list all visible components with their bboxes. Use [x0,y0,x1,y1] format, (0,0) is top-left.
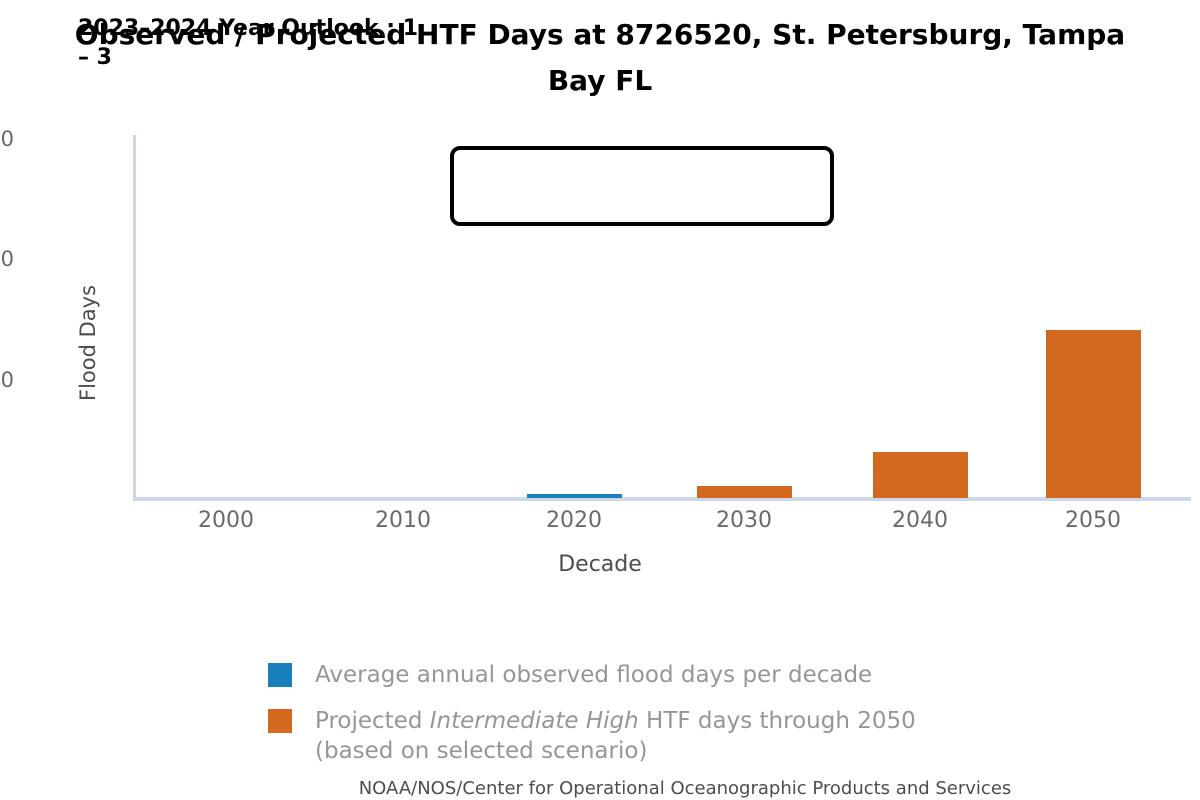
legend-swatch-projected-icon [268,709,292,733]
year-outlook-annotation-text: 2023–2024 Year Outlook : 1 – 3 [78,14,443,72]
footer-credit: NOAA/NOS/Center for Operational Oceanogr… [0,778,1200,799]
bar-2050-projected[interactable] [1046,330,1141,498]
x-tick-label-2000: 2000 [156,508,296,533]
legend-label-observed: Average annual observed flood days per d… [315,660,872,690]
y-tick-label-150: 150 [0,127,14,151]
x-axis-spine [133,497,1191,501]
legend-label-projected-scenario: Intermediate High [430,708,639,734]
y-tick-label-100: 100 [0,247,14,271]
legend-item-observed[interactable]: Average annual observed flood days per d… [268,660,1068,690]
x-tick-label-2030: 2030 [674,508,814,533]
y-axis-spine [133,135,136,501]
x-axis-label: Decade [0,552,1200,577]
legend-item-projected[interactable]: Projected Intermediate High HTF days thr… [268,706,1068,766]
year-outlook-annotation-box [450,146,834,226]
y-tick-label-50: 50 [0,368,14,392]
bar-2030-projected[interactable] [697,486,792,498]
chart-legend: Average annual observed flood days per d… [268,660,1068,782]
x-tick-label-2040: 2040 [850,508,990,533]
y-axis-label: Flood Days [76,285,100,401]
bar-2020-observed[interactable] [527,494,622,498]
legend-label-projected: Projected Intermediate High HTF days thr… [315,706,916,766]
legend-swatch-observed-icon [268,663,292,687]
x-tick-label-2050: 2050 [1023,508,1163,533]
bar-2040-projected[interactable] [873,452,968,498]
legend-label-projected-pre: Projected [315,708,430,734]
x-tick-label-2010: 2010 [333,508,473,533]
x-tick-label-2020: 2020 [504,508,644,533]
